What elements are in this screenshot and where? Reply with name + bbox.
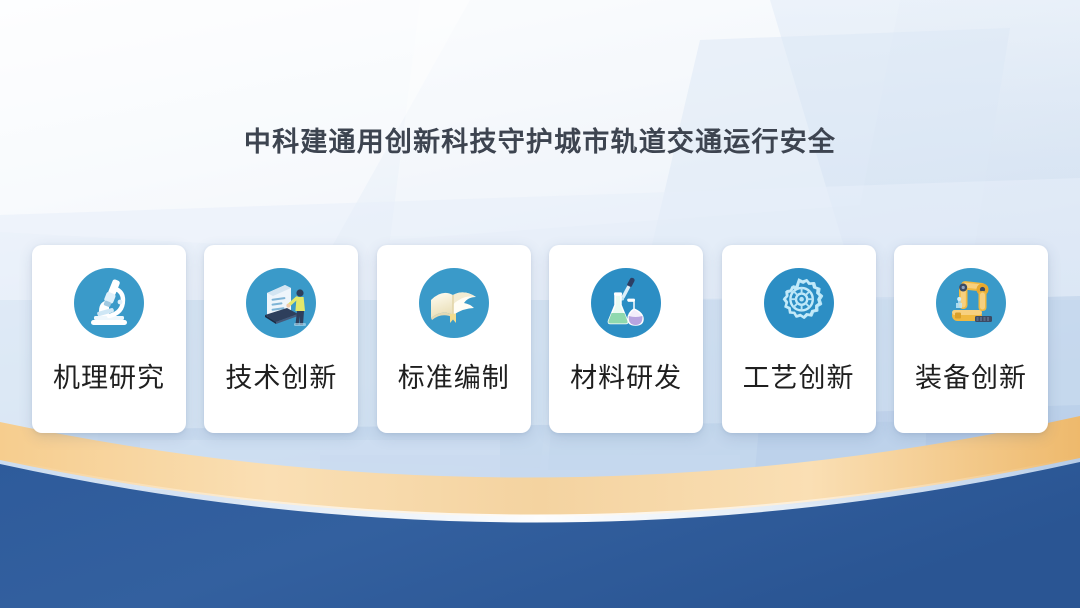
feature-card-mechanism-research[interactable]: 机理研究 [32, 245, 186, 433]
feature-card-label: 机理研究 [53, 365, 165, 392]
microscope-icon [73, 267, 145, 339]
bottom-curve-decoration [0, 408, 1080, 608]
laptop-engineer-icon [245, 267, 317, 339]
flasks-icon [590, 267, 662, 339]
feature-card-label: 技术创新 [225, 365, 337, 392]
feature-card-technology-innovation[interactable]: 技术创新 [204, 245, 358, 433]
feature-card-standard-drafting[interactable]: 标准编制 [377, 245, 531, 433]
slide-canvas: 中科建通用创新科技守护城市轨道交通运行安全 机理研究 [0, 0, 1080, 608]
feature-card-label: 装备创新 [915, 365, 1027, 392]
feature-card-row: 机理研究 [32, 245, 1048, 433]
feature-card-label: 工艺创新 [743, 365, 855, 392]
bottom-curves-svg [0, 408, 1080, 608]
feature-card-label: 材料研发 [570, 365, 682, 392]
gear-icon [763, 267, 835, 339]
open-book-icon [418, 267, 490, 339]
page-title: 中科建通用创新科技守护城市轨道交通运行安全 [0, 120, 1080, 159]
feature-card-label: 标准编制 [398, 365, 510, 392]
feature-card-process-innovation[interactable]: 工艺创新 [722, 245, 876, 433]
robot-arm-icon [935, 267, 1007, 339]
feature-card-material-rd[interactable]: 材料研发 [549, 245, 703, 433]
feature-card-equipment-innovation[interactable]: 装备创新 [894, 245, 1048, 433]
